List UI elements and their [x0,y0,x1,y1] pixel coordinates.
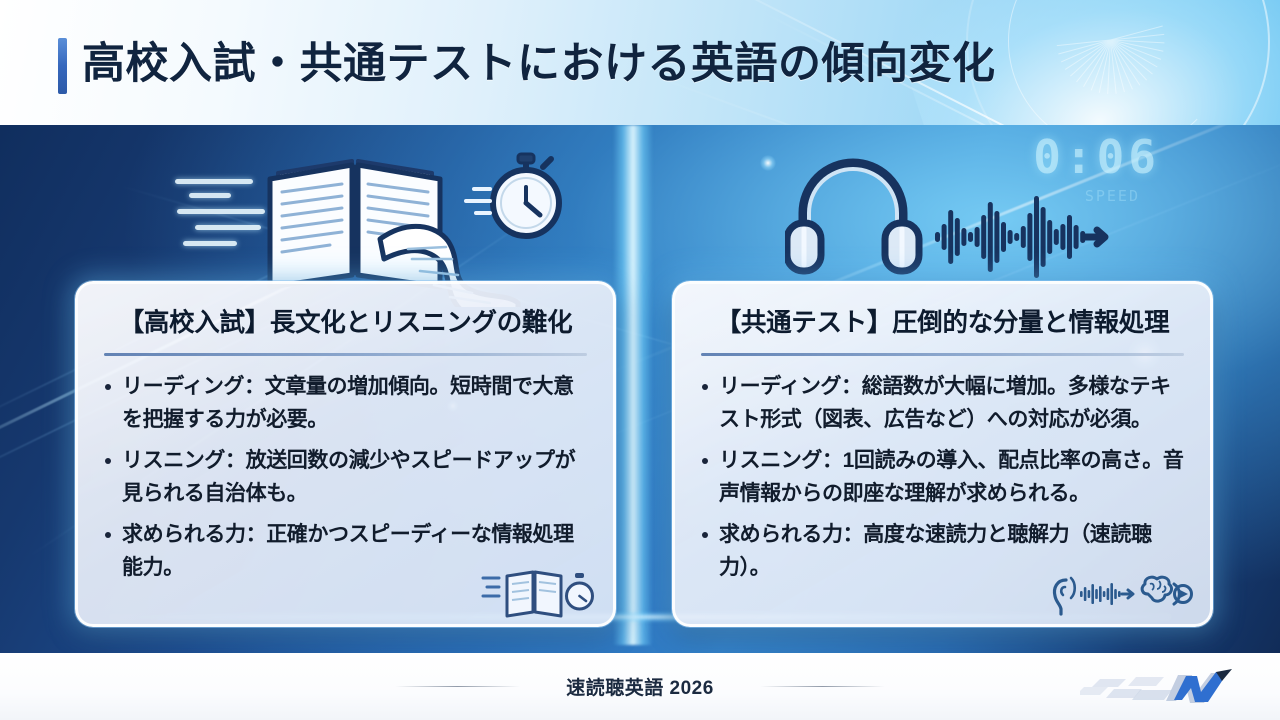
card-divider [701,353,1184,356]
card-high-school-exam[interactable]: 【高校入試】長文化とリスニングの難化 リーディング：文章量の増加傾向。短時間で大… [75,281,616,627]
card-bullet-list: リーディング：総語数が大幅に増加。多様なテキスト形式（図表、広告など）への対応が… [699,370,1186,584]
card-title: 【共通テスト】圧倒的な分量と情報処理 [699,306,1186,340]
card-common-test[interactable]: 【共通テスト】圧倒的な分量と情報処理 リーディング：総語数が大幅に増加。多様なテ… [672,281,1213,627]
list-item: リーディング：総語数が大幅に増加。多様なテキスト形式（図表、広告など）への対応が… [699,370,1186,436]
ear-waveform-brain-icon [1050,570,1200,618]
speed-n-swoosh-logo [1080,667,1260,711]
speedometer-ticks-icon [1035,0,1185,100]
book-stopwatch-icon [481,560,601,620]
slide-header: 高校入試・共通テストにおける英語の傾向変化 [0,0,1280,125]
list-item: リーディング：文章量の増加傾向。短時間で大意を把握する力が必要。 [102,370,589,436]
title-accent-bar [58,38,67,94]
list-item: リスニング：放送回数の減少やスピードアップが見られる自治体も。 [102,444,589,510]
slide-root: 高校入試・共通テストにおける英語の傾向変化 0:06 SPEED [0,0,1280,720]
card-bullet-list: リーディング：文章量の増加傾向。短時間で大意を把握する力が必要。 リスニング：放… [102,370,589,584]
page-title: 高校入試・共通テストにおける英語の傾向変化 [82,32,996,96]
card-divider [104,353,587,356]
card-title: 【高校入試】長文化とリスニングの難化 [102,306,589,340]
list-item: リスニング：1回読みの導入、配点比率の高さ。音声情報からの即座な理解が求められる… [699,444,1186,510]
headphones-waveform-icon [785,155,1115,290]
slide-footer: 速読聴英語 2026 [0,653,1280,720]
light-spot [760,155,776,171]
center-light-beam [613,125,653,645]
